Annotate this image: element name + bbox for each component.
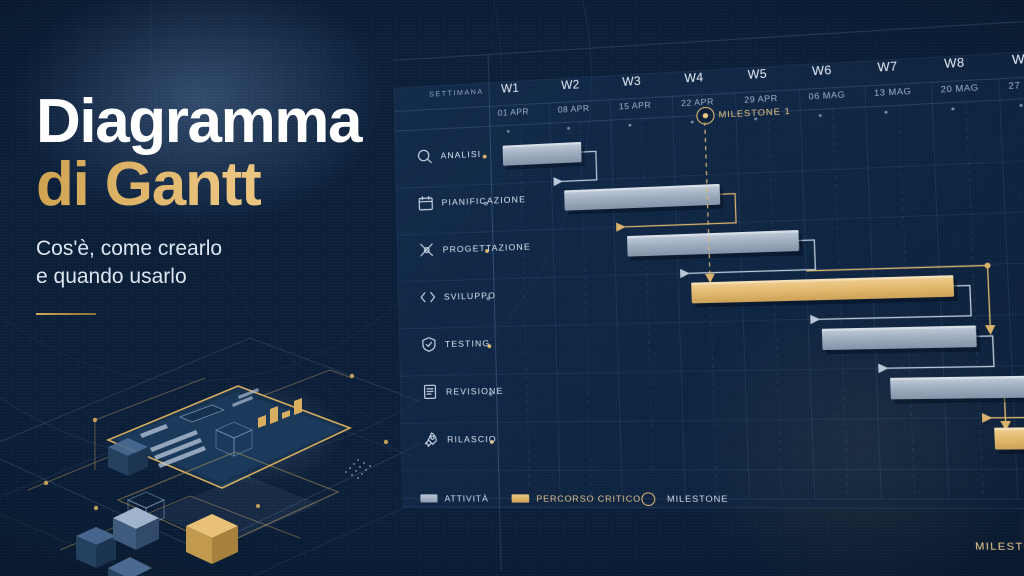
gantt-chart-panel: SETTIMANAW101 APRW208 APRW315 APRW422 AP…	[393, 18, 1024, 534]
legend-swatch-milestone	[641, 492, 655, 506]
week-date-w8: 20 MAG	[940, 82, 978, 95]
week-header-w4: W4	[684, 72, 703, 85]
week-header-w2: W2	[561, 79, 580, 92]
gantt-bar-rilascio[interactable]	[994, 427, 1024, 450]
document-icon	[424, 385, 435, 398]
task-label-testing: TESTING	[445, 338, 491, 349]
shield-icon	[423, 338, 435, 352]
week-date-w6: 06 MAG	[808, 89, 845, 101]
task-label-revisione: REVISIONE	[446, 386, 504, 397]
week-header-w7: W7	[877, 61, 898, 75]
legend-label-2: MILESTONE	[667, 493, 729, 504]
week-header-w3: W3	[622, 76, 641, 89]
week-header-w1: W1	[501, 83, 519, 96]
week-date-w3: 15 APR	[619, 100, 652, 112]
calendar-icon	[419, 196, 432, 210]
task-label-sviluppo: SVILUPPO	[444, 290, 496, 302]
subtitle-line2: e quando usarlo	[36, 263, 426, 291]
week-date-w4: 22 APR	[681, 96, 714, 108]
slide-canvas: Diagramma di Gantt Cos'è, come crearlo e…	[0, 0, 1024, 576]
legend-swatch-gold	[512, 494, 530, 502]
week-date-w2: 08 APR	[558, 103, 590, 115]
legend-label-1: PERCORSO CRITICO	[536, 493, 641, 504]
design-icon	[421, 244, 433, 256]
page-title-line2: di Gantt	[36, 153, 426, 217]
search-icon	[418, 150, 431, 163]
isometric-illustration	[0, 300, 420, 576]
week-header-w6: W6	[812, 65, 832, 79]
week-header-w9: W9	[1012, 53, 1024, 67]
page-title-line1: Diagramma	[36, 92, 426, 153]
week-date-w1: 01 APR	[498, 106, 530, 118]
week-date-w5: 29 APR	[744, 93, 778, 105]
hero-text-block: Diagramma di Gantt Cos'è, come crearlo e…	[36, 92, 426, 315]
legend-label-0: ATTIVITÀ	[444, 493, 488, 503]
week-header-w5: W5	[747, 68, 767, 82]
task-label-analisi: ANALISI	[440, 149, 481, 161]
task-label-rilascio: RILASCIO	[447, 434, 497, 445]
legend-swatch-grey	[420, 494, 437, 502]
week-date-w9: 27 MAG	[1008, 78, 1024, 91]
code-icon	[421, 292, 435, 301]
subtitle-line1: Cos'è, come crearlo	[36, 235, 426, 263]
week-date-w7: 13 MAG	[874, 86, 912, 99]
rocket-icon	[425, 433, 436, 446]
week-header-w8: W8	[944, 57, 965, 71]
milestone-label-2: MILESTONE 2	[975, 541, 1024, 554]
